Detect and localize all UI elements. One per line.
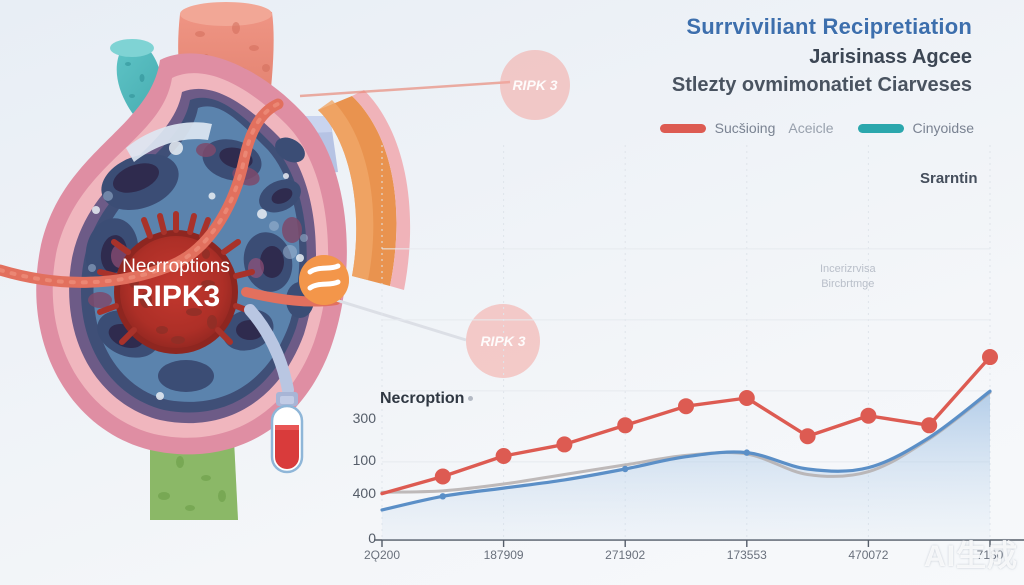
inner-label-dot bbox=[468, 396, 473, 401]
blood-test-tube-icon bbox=[272, 392, 302, 472]
x-tick-0: 2Ǫ200 bbox=[342, 548, 422, 562]
faint-annotation: Incerizrvisa Bircbrtmge bbox=[820, 262, 876, 292]
x-tick-5: 7180 bbox=[950, 548, 1024, 562]
series-annotation: Srarntin bbox=[920, 170, 978, 187]
x-tick-3: 173553 bbox=[707, 548, 787, 562]
chart-plot-area bbox=[330, 0, 1024, 585]
y-tick-3: 0 bbox=[330, 530, 376, 546]
y-tick-1: 100 bbox=[330, 452, 376, 468]
chart-panel: Surrviviliant Recipretiation Jarisinass … bbox=[330, 0, 1024, 585]
x-tick-2: 271902 bbox=[585, 548, 665, 562]
chart-axes bbox=[374, 540, 1024, 547]
y-tick-0: 300 bbox=[330, 410, 376, 426]
faint-annotation-line-1: Incerizrvisa bbox=[820, 262, 876, 277]
x-tick-1: 187909 bbox=[464, 548, 544, 562]
ripk3-label: RIPK3 bbox=[132, 280, 220, 313]
y-tick-2: 400 bbox=[330, 485, 376, 501]
x-tick-4: 470072 bbox=[828, 548, 908, 562]
screenshot-root: Necrroptions RIPK3 RIPK 3 RIPK 3 Surrviv… bbox=[0, 0, 1024, 585]
inner-chart-label: Necroption bbox=[380, 390, 473, 408]
inner-chart-label-text: Necroption bbox=[380, 390, 464, 407]
necroptosis-small-label: Necrroptions bbox=[122, 256, 230, 277]
faint-annotation-line-2: Bircbrtmge bbox=[820, 277, 876, 292]
